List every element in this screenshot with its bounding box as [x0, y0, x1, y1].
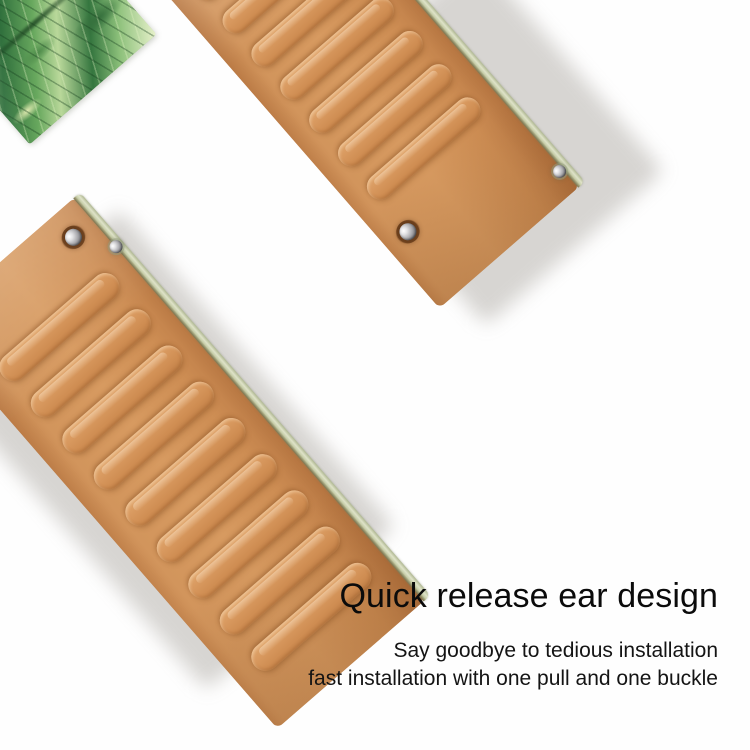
- headline-text: Quick release ear design: [340, 575, 719, 617]
- subtitle-line-2: fast installation with one pull and one …: [308, 665, 718, 693]
- product-image: Quick release ear design Say goodbye to …: [0, 0, 750, 750]
- subtitle-block: Say goodbye to tedious installation fast…: [308, 637, 718, 693]
- leaf-gloss-highlight: [0, 0, 157, 145]
- subtitle-line-1: Say goodbye to tedious installation: [308, 637, 718, 665]
- leaf-print-band-fragment: [0, 0, 157, 145]
